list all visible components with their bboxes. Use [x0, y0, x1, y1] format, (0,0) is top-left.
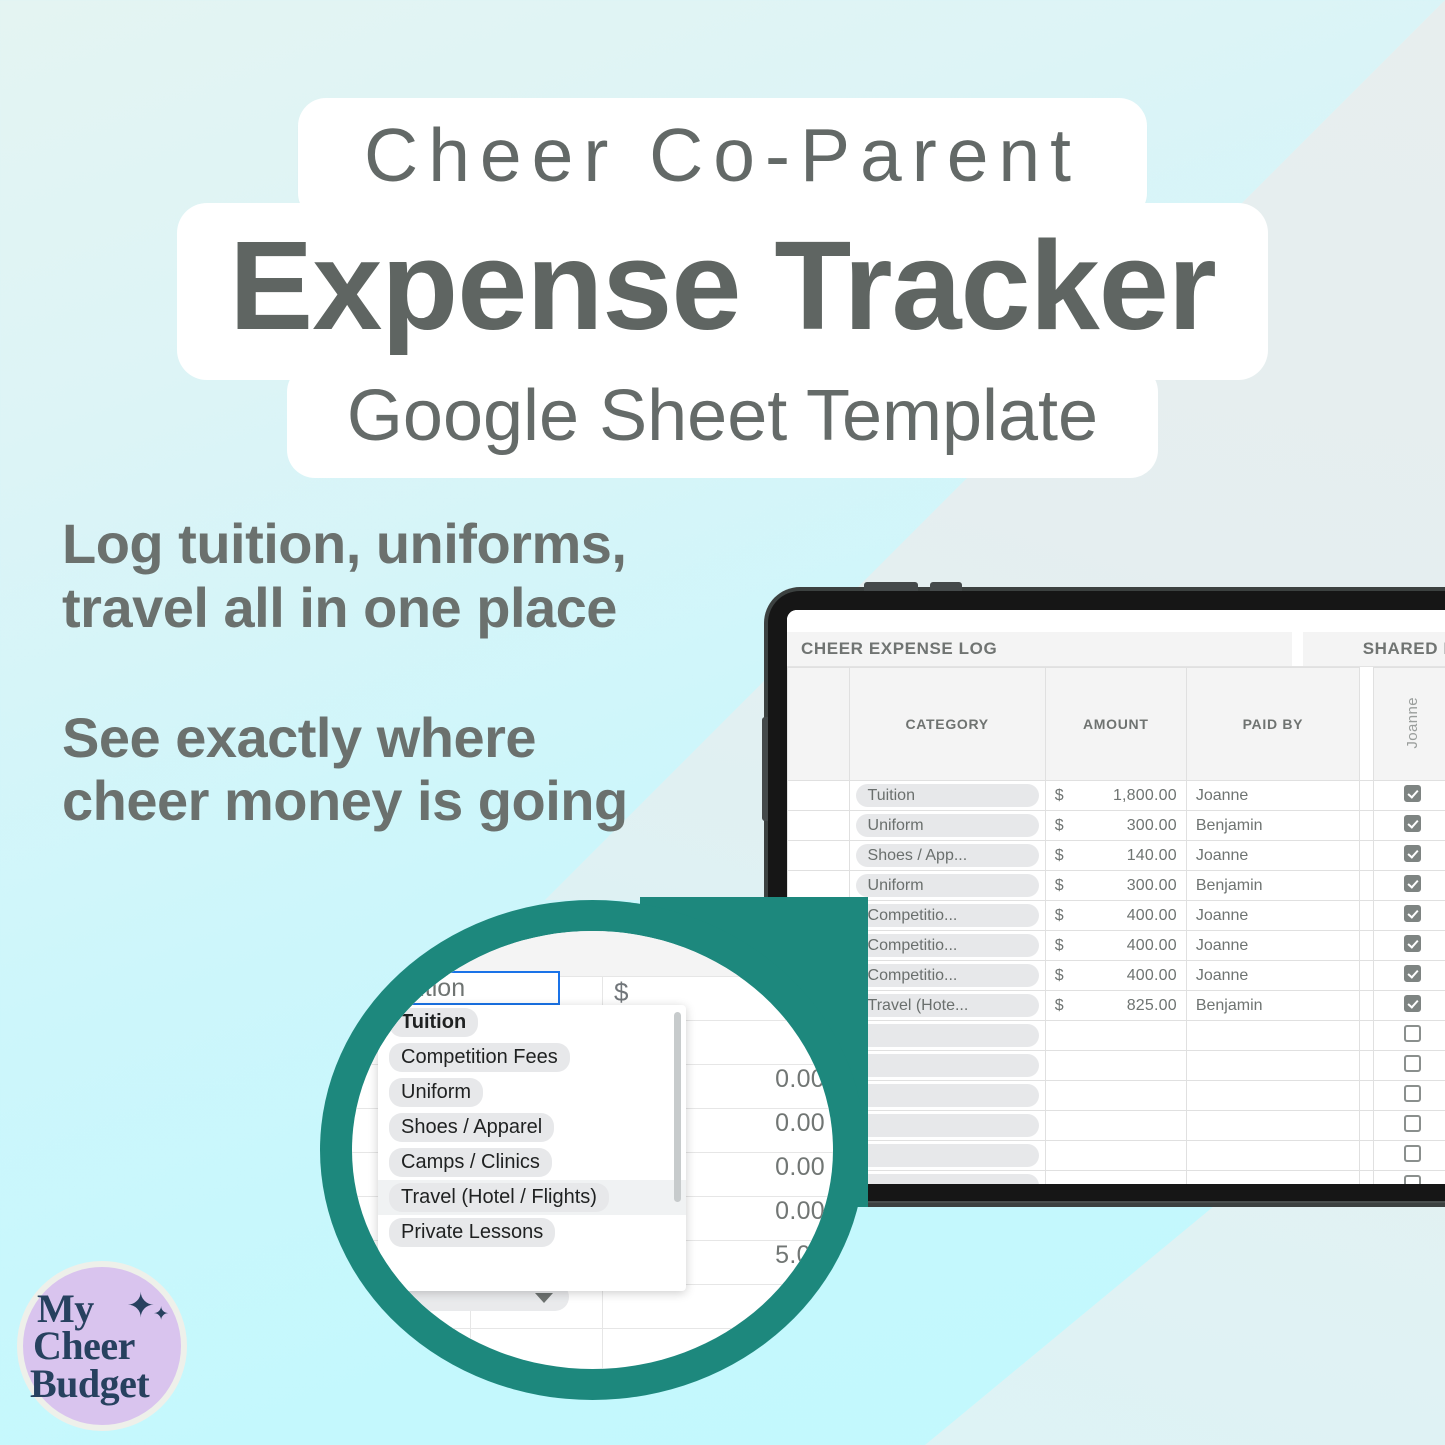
amount-cell[interactable]: $1,800.00 [1045, 781, 1186, 811]
shared-joanne-checkbox[interactable] [1404, 905, 1421, 922]
shared-joanne-checkbox-cell[interactable] [1374, 1021, 1445, 1051]
currency-symbol: $ [1055, 817, 1064, 835]
paid-by-cell[interactable] [1186, 1051, 1359, 1081]
shared-joanne-checkbox[interactable] [1404, 1085, 1421, 1102]
amount-value: 140.00 [1127, 847, 1177, 865]
amount-cell[interactable] [1045, 1051, 1186, 1081]
shared-joanne-checkbox-cell[interactable] [1374, 1141, 1445, 1171]
category-pill: Tuition [856, 784, 1039, 807]
paid-by-cell[interactable] [1186, 1111, 1359, 1141]
category-cell-value: Tuition [391, 974, 465, 1003]
feature-line-2b: cheer money is going [62, 769, 782, 833]
category-pill [856, 1054, 1039, 1077]
tablet-power-button [762, 717, 768, 821]
table-row[interactable] [788, 1141, 1445, 1171]
paid-by-cell[interactable]: Joanne [1186, 931, 1359, 961]
paid-by-value: Benjamin [1187, 997, 1359, 1015]
spreadsheet-title-row: CHEER EXPENSE LOG SHARED BY [787, 632, 1445, 667]
shared-joanne-checkbox[interactable] [1404, 1025, 1421, 1042]
category-pill [856, 1144, 1039, 1167]
shared-by-header: SHARED BY [1303, 632, 1445, 666]
amount-value: 300.00 [1127, 877, 1177, 895]
shared-joanne-checkbox[interactable] [1404, 1055, 1421, 1072]
feature-line-1a: Log tuition, uniforms, [62, 512, 782, 576]
col-header-amount: AMOUNT [1045, 668, 1186, 781]
feature-copy-block-2: See exactly where cheer money is going [62, 706, 782, 834]
currency-symbol: $ [1055, 967, 1064, 985]
expense-table-head: CATEGORY AMOUNT PAID BY Joanne Benjamin [788, 668, 1445, 781]
category-cell[interactable]: Uniform [849, 811, 1045, 841]
callout-background-amount: 0. [804, 1021, 825, 1050]
chevron-down-icon[interactable] [535, 1293, 553, 1303]
brand-logo: My Cheer Budget ✦ ✦ [17, 1261, 187, 1431]
dropdown-option-1[interactable]: Competition Fees [378, 1040, 686, 1075]
callout-background-amount: 0.00 [775, 1197, 825, 1226]
dropdown-option-2[interactable]: Uniform [378, 1075, 686, 1110]
category-pill: Uniform [856, 874, 1039, 897]
paid-by-cell[interactable]: Joanne [1186, 901, 1359, 931]
amount-value: 300.00 [1127, 817, 1177, 835]
paid-by-cell[interactable] [1186, 1171, 1359, 1185]
column-gap-cell [1359, 1021, 1373, 1051]
callout-background-amount: 0.00 [775, 1109, 825, 1138]
logo-line-3: Budget [30, 1365, 149, 1403]
category-cell[interactable]: Shoes / App... [849, 841, 1045, 871]
shared-joanne-checkbox-cell[interactable] [1374, 781, 1445, 811]
paid-by-value: Joanne [1187, 967, 1359, 985]
paid-by-value: Joanne [1187, 907, 1359, 925]
col-header-category: CATEGORY [849, 668, 1045, 781]
col-header-gap [1359, 668, 1373, 781]
sheet-title: CHEER EXPENSE LOG [787, 639, 1292, 659]
paid-by-cell[interactable] [1186, 1141, 1359, 1171]
column-gap-cell [1359, 931, 1373, 961]
column-gap-cell [1359, 991, 1373, 1021]
shared-joanne-checkbox[interactable] [1404, 1145, 1421, 1162]
currency-symbol: $ [1055, 877, 1064, 895]
row-index-cell[interactable] [788, 811, 850, 841]
category-cell[interactable] [849, 1171, 1045, 1185]
currency-symbol: $ [1055, 997, 1064, 1015]
sheet-title-gap [1292, 632, 1303, 666]
subtitle-card: Google Sheet Template [287, 364, 1158, 478]
dropdown-option-label: Uniform [389, 1078, 483, 1107]
subtitle-text: Google Sheet Template [347, 378, 1098, 456]
shared-joanne-checkbox-cell[interactable] [1374, 1081, 1445, 1111]
shared-joanne-checkbox-cell[interactable] [1374, 811, 1445, 841]
category-cell[interactable]: Competitio... [849, 961, 1045, 991]
col-header-shared-joanne-label: Joanne [1404, 697, 1421, 749]
shared-joanne-checkbox-cell[interactable] [1374, 871, 1445, 901]
column-gap-cell [1359, 1051, 1373, 1081]
paid-by-value: Benjamin [1187, 817, 1359, 835]
shared-joanne-checkbox[interactable] [1404, 995, 1421, 1012]
column-gap-cell [1359, 1111, 1373, 1141]
shared-joanne-checkbox-cell[interactable] [1374, 1171, 1445, 1185]
amount-cell[interactable] [1045, 1171, 1186, 1185]
callout-magnifier: 0.0.000.000.000.005.00 Tuition $ 1,8 Tui… [352, 931, 833, 1369]
column-gap-cell [1359, 871, 1373, 901]
amount-cell[interactable]: $140.00 [1045, 841, 1186, 871]
tablet-screen: CHEER EXPENSE LOG SHARED BY CATEGORY AMO… [787, 610, 1445, 1184]
shared-joanne-checkbox[interactable] [1404, 875, 1421, 892]
amount-value: 1,800.00 [1113, 787, 1177, 805]
callout-peek-amount: 1,8 [807, 977, 833, 1006]
row-index-cell[interactable] [788, 841, 850, 871]
amount-value: 400.00 [1127, 967, 1177, 985]
callout-content: 0.0.000.000.000.005.00 Tuition $ 1,8 Tui… [352, 931, 833, 1369]
table-row[interactable]: Uniform$300.00Benjamin [788, 811, 1445, 841]
feature-line-2a: See exactly where [62, 706, 782, 770]
dropdown-option-6[interactable]: Private Lessons [378, 1215, 686, 1250]
currency-symbol: $ [1055, 907, 1064, 925]
paid-by-cell[interactable]: Joanne [1186, 961, 1359, 991]
shared-joanne-checkbox[interactable] [1404, 1175, 1421, 1185]
paid-by-cell[interactable]: Benjamin [1186, 991, 1359, 1021]
paid-by-cell[interactable] [1186, 1021, 1359, 1051]
shared-joanne-checkbox-cell[interactable] [1374, 901, 1445, 931]
tablet-volume-button-down [930, 582, 962, 591]
tablet-device: CHEER EXPENSE LOG SHARED BY CATEGORY AMO… [768, 591, 1445, 1203]
table-row[interactable]: Competitio...$400.00Joanne [788, 961, 1445, 991]
callout-background-amount: 0.00 [775, 1065, 825, 1094]
category-dropdown-menu[interactable]: TuitionCompetition FeesUniformShoes / Ap… [378, 1005, 686, 1291]
table-row[interactable] [788, 1081, 1445, 1111]
paid-by-cell[interactable]: Benjamin [1186, 871, 1359, 901]
amount-cell[interactable] [1045, 1111, 1186, 1141]
category-cell[interactable] [849, 1051, 1045, 1081]
spreadsheet: CHEER EXPENSE LOG SHARED BY CATEGORY AMO… [787, 610, 1445, 1184]
paid-by-value: Joanne [1187, 847, 1359, 865]
logo-line-2: Cheer [33, 1327, 135, 1365]
category-cell[interactable]: Tuition [849, 781, 1045, 811]
amount-value: 825.00 [1127, 997, 1177, 1015]
tablet-volume-button-up [864, 582, 918, 591]
table-row[interactable]: Competitio...$400.00Joanne [788, 931, 1445, 961]
dropdown-option-4[interactable]: Camps / Clinics [378, 1145, 686, 1180]
page-title: Expense Tracker [229, 209, 1216, 363]
amount-cell[interactable]: $300.00 [1045, 811, 1186, 841]
category-cell[interactable] [849, 1021, 1045, 1051]
dropdown-option-label: Travel (Hotel / Flights) [389, 1183, 609, 1212]
table-row[interactable] [788, 1111, 1445, 1141]
dropdown-option-3[interactable]: Shoes / Apparel [378, 1110, 686, 1145]
amount-cell[interactable]: $825.00 [1045, 991, 1186, 1021]
callout-background-amount: 5.00 [775, 1241, 825, 1270]
table-row[interactable] [788, 1171, 1445, 1185]
col-header-paid-by: PAID BY [1186, 668, 1359, 781]
category-pill [856, 1174, 1039, 1184]
amount-cell[interactable]: $300.00 [1045, 871, 1186, 901]
shared-joanne-checkbox-cell[interactable] [1374, 991, 1445, 1021]
category-pill: Competitio... [856, 964, 1039, 987]
paid-by-value: Joanne [1187, 787, 1359, 805]
feature-line-1b: travel all in one place [62, 576, 782, 640]
category-pill: Competitio... [856, 904, 1039, 927]
shared-joanne-checkbox-cell[interactable] [1374, 1111, 1445, 1141]
col-header-shared-joanne: Joanne [1374, 668, 1445, 781]
table-row[interactable]: Tuition$1,800.00Joanne [788, 781, 1445, 811]
table-row[interactable]: Competitio...$400.00Joanne [788, 901, 1445, 931]
category-cell[interactable] [849, 1111, 1045, 1141]
amount-cell[interactable]: $400.00 [1045, 901, 1186, 931]
shared-joanne-checkbox-cell[interactable] [1374, 961, 1445, 991]
dropdown-option-label: Private Lessons [389, 1218, 555, 1247]
shared-joanne-checkbox[interactable] [1404, 1115, 1421, 1132]
expense-table-body: Tuition$1,800.00JoanneUniform$300.00Benj… [788, 781, 1445, 1185]
currency-symbol: $ [1055, 787, 1064, 805]
table-row[interactable] [788, 1021, 1445, 1051]
shared-joanne-checkbox[interactable] [1404, 935, 1421, 952]
category-cell[interactable]: Uniform [849, 871, 1045, 901]
sparkle-icon-small: ✦ [153, 1303, 169, 1326]
category-pill [856, 1024, 1039, 1047]
dropdown-option-label: Camps / Clinics [389, 1148, 552, 1177]
category-pill: Uniform [856, 814, 1039, 837]
category-cell[interactable] [849, 1081, 1045, 1111]
currency-symbol: $ [1055, 847, 1064, 865]
column-gap-cell [1359, 901, 1373, 931]
category-cell[interactable]: Competitio... [849, 931, 1045, 961]
shared-joanne-checkbox[interactable] [1404, 815, 1421, 832]
column-gap-cell [1359, 811, 1373, 841]
shared-joanne-checkbox[interactable] [1404, 965, 1421, 982]
eyebrow-text: Cheer Co-Parent [364, 116, 1081, 195]
category-dropdown-list: TuitionCompetition FeesUniformShoes / Ap… [378, 1005, 686, 1250]
dropdown-option-0[interactable]: Tuition [378, 1005, 686, 1040]
feature-copy-block-1: Log tuition, uniforms, travel all in one… [62, 512, 782, 640]
category-pill: Competitio... [856, 934, 1039, 957]
table-row[interactable]: Shoes / App...$140.00Joanne [788, 841, 1445, 871]
category-pill: Shoes / App... [856, 844, 1039, 867]
headline-card: Expense Tracker [177, 203, 1268, 381]
category-pill: Travel (Hote... [856, 994, 1039, 1017]
column-gap-cell [1359, 841, 1373, 871]
amount-cell[interactable]: $400.00 [1045, 961, 1186, 991]
callout-background-amount: 0.00 [775, 1153, 825, 1182]
dropdown-option-label: Competition Fees [389, 1043, 570, 1072]
paid-by-cell[interactable] [1186, 1081, 1359, 1111]
amount-value: 400.00 [1127, 937, 1177, 955]
column-gap-cell [1359, 961, 1373, 991]
shared-joanne-checkbox-cell[interactable] [1374, 931, 1445, 961]
callout-dollar-sign: $ [614, 977, 628, 1008]
shared-joanne-checkbox-cell[interactable] [1374, 1051, 1445, 1081]
table-row[interactable]: Uniform$300.00Benjamin [788, 871, 1445, 901]
category-cell[interactable]: Competitio... [849, 901, 1045, 931]
paid-by-cell[interactable]: Joanne [1186, 781, 1359, 811]
dropdown-scrollbar[interactable] [674, 1012, 681, 1202]
shared-joanne-checkbox[interactable] [1404, 845, 1421, 862]
expense-table: CATEGORY AMOUNT PAID BY Joanne Benjamin … [787, 667, 1445, 1184]
column-gap-cell [1359, 1081, 1373, 1111]
dropdown-option-5[interactable]: Travel (Hotel / Flights) [378, 1180, 686, 1215]
amount-cell[interactable] [1045, 1021, 1186, 1051]
column-gap-cell [1359, 1141, 1373, 1171]
title-block: Cheer Co-Parent Expense Tracker Google S… [0, 98, 1445, 478]
paid-by-cell[interactable]: Joanne [1186, 841, 1359, 871]
amount-value: 400.00 [1127, 907, 1177, 925]
category-pill [856, 1084, 1039, 1107]
column-gap-cell [1359, 1171, 1373, 1185]
col-header-index [788, 668, 850, 781]
row-index-cell[interactable] [788, 781, 850, 811]
table-row[interactable]: Travel (Hote...$825.00Benjamin [788, 991, 1445, 1021]
table-row[interactable] [788, 1051, 1445, 1081]
category-pill [856, 1114, 1039, 1137]
amount-cell[interactable]: $400.00 [1045, 931, 1186, 961]
category-cell[interactable]: Travel (Hote... [849, 991, 1045, 1021]
category-cell[interactable] [849, 1141, 1045, 1171]
paid-by-value: Joanne [1187, 937, 1359, 955]
row-index-cell[interactable] [788, 871, 850, 901]
shared-joanne-checkbox[interactable] [1404, 785, 1421, 802]
spreadsheet-top-margin [787, 610, 1445, 632]
logo-line-1: My [37, 1290, 94, 1328]
sparkle-icon-large: ✦ [127, 1286, 156, 1326]
category-cell-input[interactable]: Tuition [380, 971, 560, 1005]
paid-by-value: Benjamin [1187, 877, 1359, 895]
column-gap-cell [1359, 781, 1373, 811]
feature-copy: Log tuition, uniforms, travel all in one… [62, 512, 782, 833]
paid-by-cell[interactable]: Benjamin [1186, 811, 1359, 841]
dropdown-option-label: Shoes / Apparel [389, 1113, 554, 1142]
expense-table-header-row: CATEGORY AMOUNT PAID BY Joanne Benjamin [788, 668, 1445, 781]
shared-joanne-checkbox-cell[interactable] [1374, 841, 1445, 871]
amount-cell[interactable] [1045, 1081, 1186, 1111]
dropdown-option-label: Tuition [389, 1008, 478, 1037]
amount-cell[interactable] [1045, 1141, 1186, 1171]
currency-symbol: $ [1055, 937, 1064, 955]
